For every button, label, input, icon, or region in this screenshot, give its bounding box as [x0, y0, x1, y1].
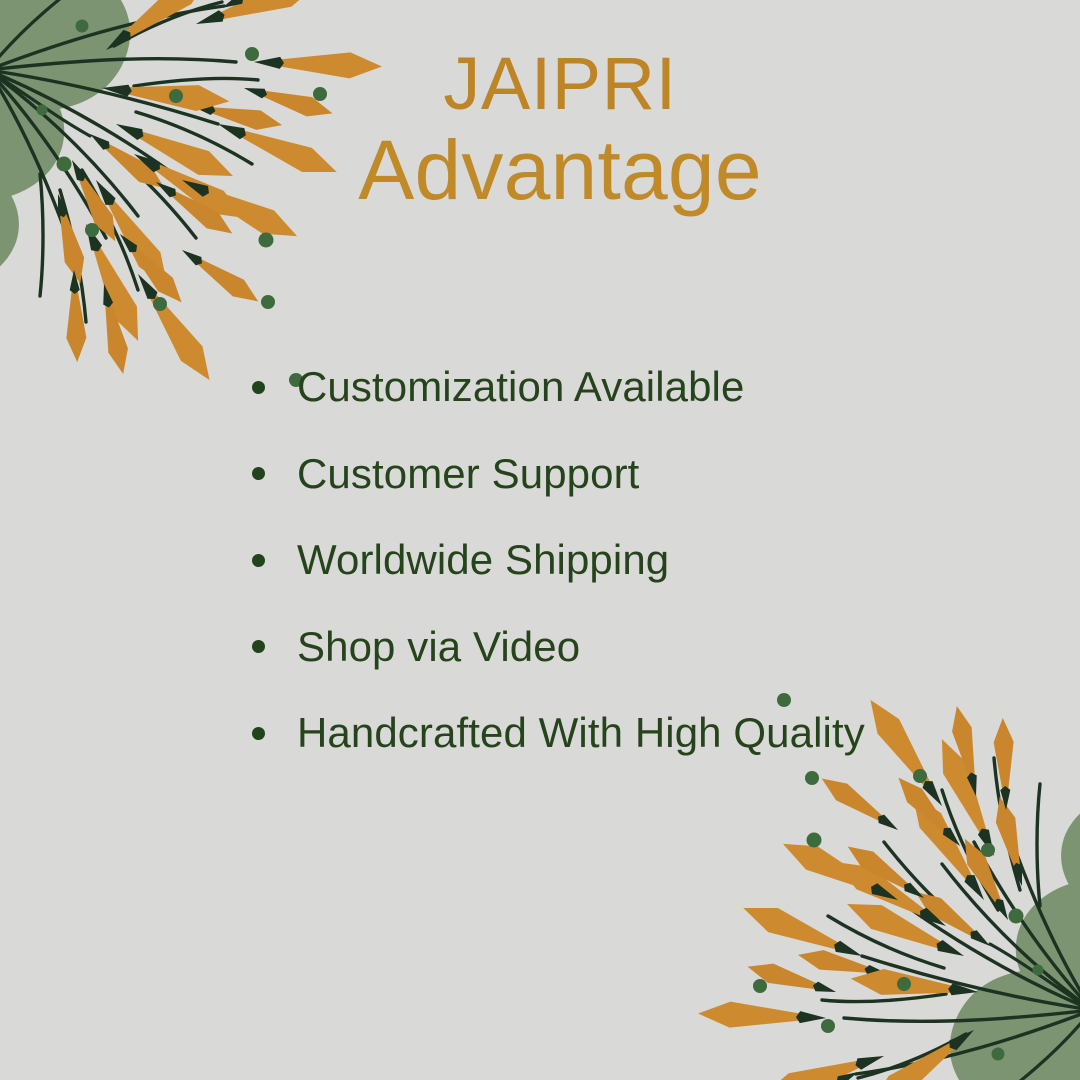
- bullet-dot-icon: [252, 381, 265, 394]
- list-item: Worldwide Shipping: [248, 517, 1008, 604]
- bullet-dot-icon: [252, 467, 265, 480]
- page-title: JAIPRI Advantage: [300, 46, 820, 217]
- list-item-label: Customer Support: [297, 453, 639, 495]
- advantage-list: Customization Available Customer Support…: [248, 344, 1008, 777]
- list-item: Handcrafted With High Quality: [248, 690, 1008, 777]
- brand-name-heading: JAIPRI: [300, 46, 820, 123]
- list-item: Shop via Video: [248, 604, 1008, 691]
- list-item-label: Shop via Video: [297, 626, 580, 668]
- list-item-label: Customization Available: [297, 366, 744, 408]
- bullet-dot-icon: [252, 554, 265, 567]
- poster-canvas: JAIPRI Advantage Customization Available…: [0, 0, 1080, 1080]
- list-item: Customer Support: [248, 431, 1008, 518]
- list-item-label: Worldwide Shipping: [297, 539, 669, 581]
- list-item: Customization Available: [248, 344, 1008, 431]
- list-item-label: Handcrafted With High Quality: [297, 712, 865, 754]
- bullet-dot-icon: [252, 727, 265, 740]
- bullet-dot-icon: [252, 640, 265, 653]
- headline-subtitle: Advantage: [300, 123, 820, 217]
